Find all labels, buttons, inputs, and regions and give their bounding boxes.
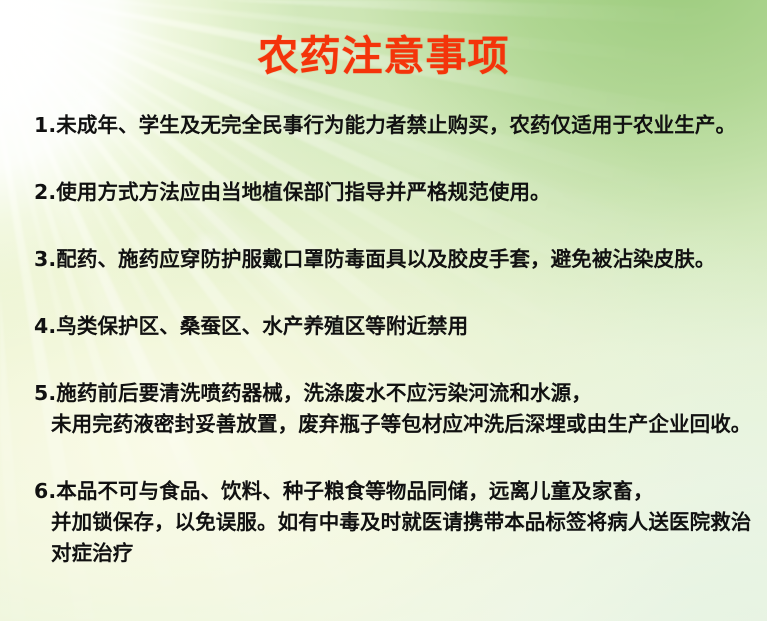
notice-line: 对症治疗: [34, 538, 753, 569]
notice-line: 1.未成年、学生及无完全民事行为能力者禁止购买，农药仅适用于农业生产。: [34, 110, 753, 141]
poster-content: 农药注意事项 1.未成年、学生及无完全民事行为能力者禁止购买，农药仅适用于农业生…: [0, 0, 767, 621]
list-item: 2.使用方式方法应由当地植保部门指导并严格规范使用。: [34, 177, 753, 208]
notice-line: 6.本品不可与食品、饮料、种子粮食等物品同储，远离儿童及家畜，: [34, 476, 753, 507]
notice-line: 并加锁保存，以免误服。如有中毒及时就医请携带本品标签将病人送医院救治: [34, 507, 753, 538]
notice-line: 5.施药前后要清洗喷药器械，洗涤废水不应污染河流和水源，: [34, 378, 753, 409]
list-item: 4.鸟类保护区、桑蚕区、水产养殖区等附近禁用: [34, 311, 753, 342]
poster-canvas: 农药注意事项 1.未成年、学生及无完全民事行为能力者禁止购买，农药仅适用于农业生…: [0, 0, 767, 621]
page-title: 农药注意事项: [0, 33, 767, 81]
notice-line: 3.配药、施药应穿防护服戴口罩防毒面具以及胶皮手套，避免被沾染皮肤。: [34, 244, 753, 275]
notice-list: 1.未成年、学生及无完全民事行为能力者禁止购买，农药仅适用于农业生产。 2.使用…: [34, 110, 753, 569]
notice-line: 2.使用方式方法应由当地植保部门指导并严格规范使用。: [34, 177, 753, 208]
notice-line: 未用完药液密封妥善放置，废弃瓶子等包材应冲洗后深埋或由生产企业回收。: [34, 409, 753, 440]
list-item: 6.本品不可与食品、饮料、种子粮食等物品同储，远离儿童及家畜， 并加锁保存，以免…: [34, 476, 753, 569]
notice-line: 4.鸟类保护区、桑蚕区、水产养殖区等附近禁用: [34, 311, 753, 342]
list-item: 1.未成年、学生及无完全民事行为能力者禁止购买，农药仅适用于农业生产。: [34, 110, 753, 141]
list-item: 5.施药前后要清洗喷药器械，洗涤废水不应污染河流和水源， 未用完药液密封妥善放置…: [34, 378, 753, 440]
list-item: 3.配药、施药应穿防护服戴口罩防毒面具以及胶皮手套，避免被沾染皮肤。: [34, 244, 753, 275]
